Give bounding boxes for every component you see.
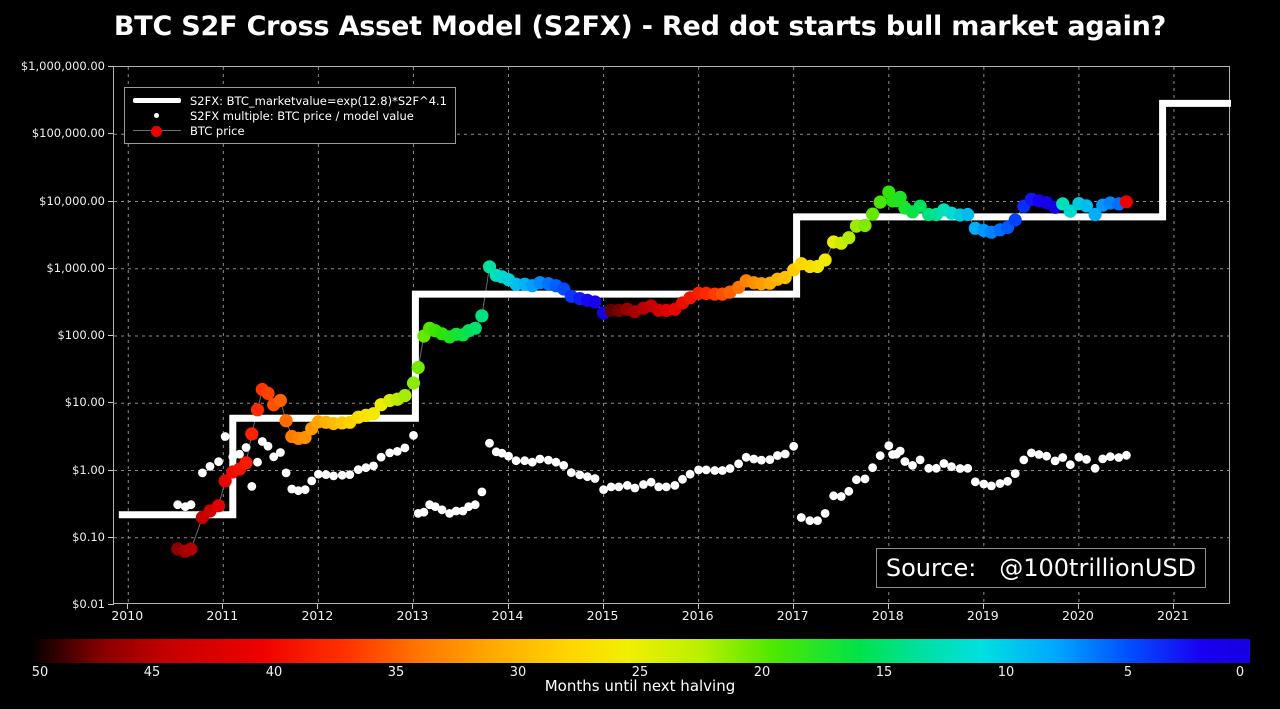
s2fx-multiple-dot xyxy=(1082,455,1091,464)
btc-price-dot xyxy=(280,414,293,427)
s2fx-multiple-dot xyxy=(1027,449,1036,458)
s2fx-multiple-dot xyxy=(987,482,996,491)
s2fx-multiple-dot xyxy=(932,464,941,473)
legend-item-model: S2FX: BTC_marketvalue=exp(12.8)*S2F^4.1 xyxy=(131,93,447,108)
btc-price-dot xyxy=(412,361,425,374)
s2fx-multiple-dot xyxy=(559,461,568,470)
btc-price-dots xyxy=(171,186,1133,558)
s2fx-multiple-dot xyxy=(1011,469,1020,478)
model-line-swatch-icon xyxy=(131,94,183,107)
s2fx-multiple-dot xyxy=(401,444,410,453)
s2fx-multiple-dot xyxy=(963,464,972,473)
s2fx-multiple-dot xyxy=(924,464,933,473)
x-axis-tick-label: 2020 xyxy=(1062,608,1094,623)
s2fx-multiple-dot xyxy=(686,470,695,479)
s2fx-multiple-dot xyxy=(235,450,244,459)
x-axis-tick-label: 2018 xyxy=(872,608,904,623)
s2fx-multiple-dot xyxy=(504,452,513,461)
x-axis-tick-label: 2019 xyxy=(967,608,999,623)
y-axis-tick-label: $0.01 xyxy=(72,597,105,611)
btc-price-dot xyxy=(866,208,879,221)
s2fx-multiple-dot xyxy=(694,466,703,475)
s2fx-multiple-dot xyxy=(221,432,230,441)
s2fx-multiple-dot xyxy=(1066,460,1075,469)
colorbar-axis-label: Months until next halving xyxy=(0,677,1280,695)
s2fx-multiple-dot xyxy=(940,459,949,468)
s2fx-multiple-dot xyxy=(1098,455,1107,464)
s2fx-multiple-dot xyxy=(868,463,877,472)
s2fx-multiple-dot xyxy=(908,461,917,470)
legend-label-model: S2FX: BTC_marketvalue=exp(12.8)*S2F^4.1 xyxy=(190,94,447,108)
btc-price-dot xyxy=(184,542,197,555)
s2fx-multiple-dot xyxy=(956,464,965,473)
y-axis-tick-label: $100.00 xyxy=(57,328,105,342)
s2fx-multiple-dot xyxy=(1091,464,1100,473)
s2fx-multiple-dot xyxy=(702,466,711,475)
s2fx-multiple-dot xyxy=(544,456,553,465)
x-axis-tick-label: 2017 xyxy=(777,608,809,623)
s2fx-multiple-dot xyxy=(623,481,632,490)
s2fx-multiple-dot xyxy=(916,456,925,465)
y-axis-labels: $0.01$0.10$1.00$10.00$100.00$1,000.00$10… xyxy=(0,0,105,709)
y-axis-tick-label: $1,000,000.00 xyxy=(21,59,105,73)
s2fx-multiple-dot xyxy=(1122,451,1131,460)
s2fx-multiple-dot xyxy=(1035,450,1044,459)
btc-price-dot xyxy=(398,389,411,402)
s2fx-multiple-dot xyxy=(393,447,402,456)
s2fx-multiple-dot xyxy=(757,456,766,465)
s2fx-multiple-dot xyxy=(173,500,182,509)
s2fx-multiple-dot xyxy=(276,448,285,457)
s2fx-multiple-dot xyxy=(884,441,893,450)
legend-label-multiple: S2FX multiple: BTC price / model value xyxy=(190,109,414,123)
s2fx-multiple-dot xyxy=(718,466,727,475)
btc-price-dot xyxy=(274,394,287,407)
s2fx-multiple-dot xyxy=(662,483,671,492)
btc-price-series xyxy=(178,192,1127,551)
btc-price-dot xyxy=(588,295,601,308)
s2fx-multiple-dot xyxy=(749,455,758,464)
s2fx-multiple-dot xyxy=(639,480,648,489)
page-title: BTC S2F Cross Asset Model (S2FX) - Red d… xyxy=(0,11,1280,42)
chart-root: BTC S2F Cross Asset Model (S2FX) - Red d… xyxy=(0,0,1280,709)
s2fx-multiple-dot xyxy=(813,516,822,525)
s2fx-multiple-dot xyxy=(362,463,371,472)
s2fx-multiple-dot xyxy=(322,470,331,479)
s2fx-multiple-dot xyxy=(678,475,687,484)
s2fx-multiple-dot xyxy=(947,462,956,471)
colorbar xyxy=(30,639,1250,663)
legend-item-multiple: S2FX multiple: BTC price / model value xyxy=(131,108,447,123)
s2fx-multiple-dot xyxy=(829,491,838,500)
s2fx-multiple-dot xyxy=(631,484,640,493)
x-axis-tick-label: 2015 xyxy=(587,608,619,623)
s2fx-multiple-dot xyxy=(1042,452,1051,461)
s2fx-multiple-dot xyxy=(742,453,751,462)
btc-price-dot xyxy=(212,499,225,512)
s2fx-multiple-dot xyxy=(1051,457,1060,466)
btc-price-last-red-dot xyxy=(1120,195,1133,208)
s2fx-multiple-dot xyxy=(575,471,584,480)
s2fx-multiple-dot xyxy=(478,488,487,497)
x-axis-tick-label: 2014 xyxy=(492,608,524,623)
s2fx-multiple-dot xyxy=(314,470,323,479)
s2fx-multiple-dot xyxy=(420,508,429,517)
s2fx-multiple-dot xyxy=(806,516,815,525)
s2fx-multiple-dot xyxy=(1003,477,1012,486)
s2fx-multiple-dot xyxy=(282,469,291,478)
y-axis-tick-label: $10,000.00 xyxy=(39,194,105,208)
s2fx-multiple-dot xyxy=(1114,453,1123,462)
s2fx-multiple-dot xyxy=(654,483,663,492)
s2fx-multiple-dot xyxy=(512,456,521,465)
s2fx-multiple-dot xyxy=(766,455,775,464)
y-axis-tick-label: $1,000.00 xyxy=(46,261,105,275)
s2fx-multiple-dot xyxy=(377,453,386,462)
btc-price-dot xyxy=(240,456,253,469)
colorbar-gradient xyxy=(30,639,1250,663)
s2fx-multiple-dot xyxy=(647,478,656,487)
s2fx-multiple-dot xyxy=(844,487,853,496)
s2fx-multiple-dot xyxy=(536,455,545,464)
s2fx-multiple-dot xyxy=(520,456,529,465)
btc-price-connector xyxy=(178,192,1127,551)
y-axis-tick-label: $10.00 xyxy=(65,395,105,409)
s2fx-multiple-dot xyxy=(781,450,790,459)
s2fx-multiple-dot xyxy=(607,483,616,492)
gridlines xyxy=(114,67,1231,605)
btc-price-dot xyxy=(469,322,482,335)
legend-label-price: BTC price xyxy=(190,124,245,138)
s2fx-multiple-dot xyxy=(773,451,782,460)
s2fx-multiple-dot xyxy=(876,451,885,460)
s2fx-multiple-dot xyxy=(187,500,196,509)
s2fx-multiple-dot xyxy=(797,513,806,522)
s2fx-multiple-dot xyxy=(1075,453,1084,462)
s2fx-multiple-dot xyxy=(471,500,480,509)
s2fx-multiple-dot xyxy=(614,483,623,492)
btc-price-dot xyxy=(261,387,274,400)
x-axis-tick-label: 2011 xyxy=(206,608,238,623)
btc-price-dot xyxy=(407,376,420,389)
s2fx-multiple-dot xyxy=(789,442,798,451)
s2fx-multiple-dot xyxy=(369,462,378,471)
s2fx-multiple-dot xyxy=(710,466,719,475)
s2fx-multiple-dot xyxy=(338,471,347,480)
s2fx-multiple-dot xyxy=(837,492,846,501)
s2fx-multiple-dot xyxy=(247,482,256,491)
btc-price-dot xyxy=(475,309,488,322)
s2fx-multiple-dot xyxy=(734,459,743,468)
s2fx-multiple-dot xyxy=(242,443,251,452)
btc-price-dot xyxy=(819,253,832,266)
btc-price-dot xyxy=(842,231,855,244)
s2fx-multiple-dot xyxy=(726,464,735,473)
s2fx-multiple-dot xyxy=(385,449,394,458)
source-watermark: Source: @100trillionUSD xyxy=(876,548,1206,588)
s2fx-multiple-dot xyxy=(329,472,338,481)
s2fx-multiple-dot xyxy=(1019,456,1028,465)
legend-item-price: BTC price xyxy=(131,123,447,138)
y-axis-tick-label: $0.10 xyxy=(72,530,105,544)
s2fx-multiple-dot xyxy=(214,457,223,466)
s2fx-multiple-dot xyxy=(852,475,861,484)
s2fx-multiple-dot xyxy=(206,462,215,471)
btc-price-dot xyxy=(1009,213,1022,226)
y-axis-tick-label: $100,000.00 xyxy=(32,126,105,140)
s2fx-multiple-dot xyxy=(896,447,905,456)
x-axis-tick-label: 2021 xyxy=(1157,608,1189,623)
s2fx-multiple-dot xyxy=(901,457,910,466)
source-label: Source: @100trillionUSD xyxy=(886,554,1196,582)
s2fx-multiple-dot xyxy=(591,474,600,483)
s2fx-multiple-dot xyxy=(599,485,608,494)
s2fx-multiple-dot xyxy=(485,439,494,448)
s2fx-multiple-dot xyxy=(528,458,537,467)
s2fx-multiple-dot xyxy=(979,480,988,489)
s2fx-multiple-dot xyxy=(671,481,680,490)
s2fx-multiple-dot xyxy=(971,477,980,486)
s2fx-multiple-dot xyxy=(438,505,447,514)
s2fx-multiple-dot xyxy=(996,479,1005,488)
s2fx-multiple-dot xyxy=(409,431,418,440)
x-axis-tick-label: 2012 xyxy=(301,608,333,623)
y-axis-tick-label: $1.00 xyxy=(72,463,105,477)
btc-price-swatch-icon xyxy=(131,124,183,137)
s2fx-multiple-dot xyxy=(264,442,273,451)
s2fx-multiple-dot xyxy=(821,509,830,518)
s2fx-multiple-dot xyxy=(567,468,576,477)
s2fx-multiple-dot xyxy=(1058,453,1067,462)
btc-price-dot xyxy=(251,403,264,416)
x-axis-tick-label: 2016 xyxy=(682,608,714,623)
s2fx-multiple-dot xyxy=(198,469,207,478)
s2fx-multiple-dot xyxy=(1106,452,1115,461)
x-axis-tick-label: 2010 xyxy=(111,608,143,623)
legend: S2FX: BTC_marketvalue=exp(12.8)*S2F^4.1 … xyxy=(124,87,456,144)
plot-canvas xyxy=(114,67,1231,605)
s2fx-multiple-dots xyxy=(173,431,1131,525)
btc-price-dot xyxy=(874,196,887,209)
s2fx-multiple-dot xyxy=(583,472,592,481)
s2fx-multiple-dot xyxy=(552,458,561,467)
s2fx-multiple-dot xyxy=(253,458,262,467)
btc-price-dot xyxy=(961,208,974,221)
s2fx-multiple-dot xyxy=(354,465,363,474)
s2fx-multiple-dot xyxy=(345,470,354,479)
btc-price-dot xyxy=(858,219,871,232)
s2fx-multiple-dot xyxy=(301,485,310,494)
plot-area xyxy=(113,66,1230,604)
x-axis-tick-label: 2013 xyxy=(397,608,429,623)
s2fx-multiple-dot xyxy=(861,475,870,484)
s2fx-multiple-dot xyxy=(307,477,316,486)
btc-price-dot xyxy=(245,427,258,440)
multiple-dot-swatch-icon xyxy=(131,109,183,122)
